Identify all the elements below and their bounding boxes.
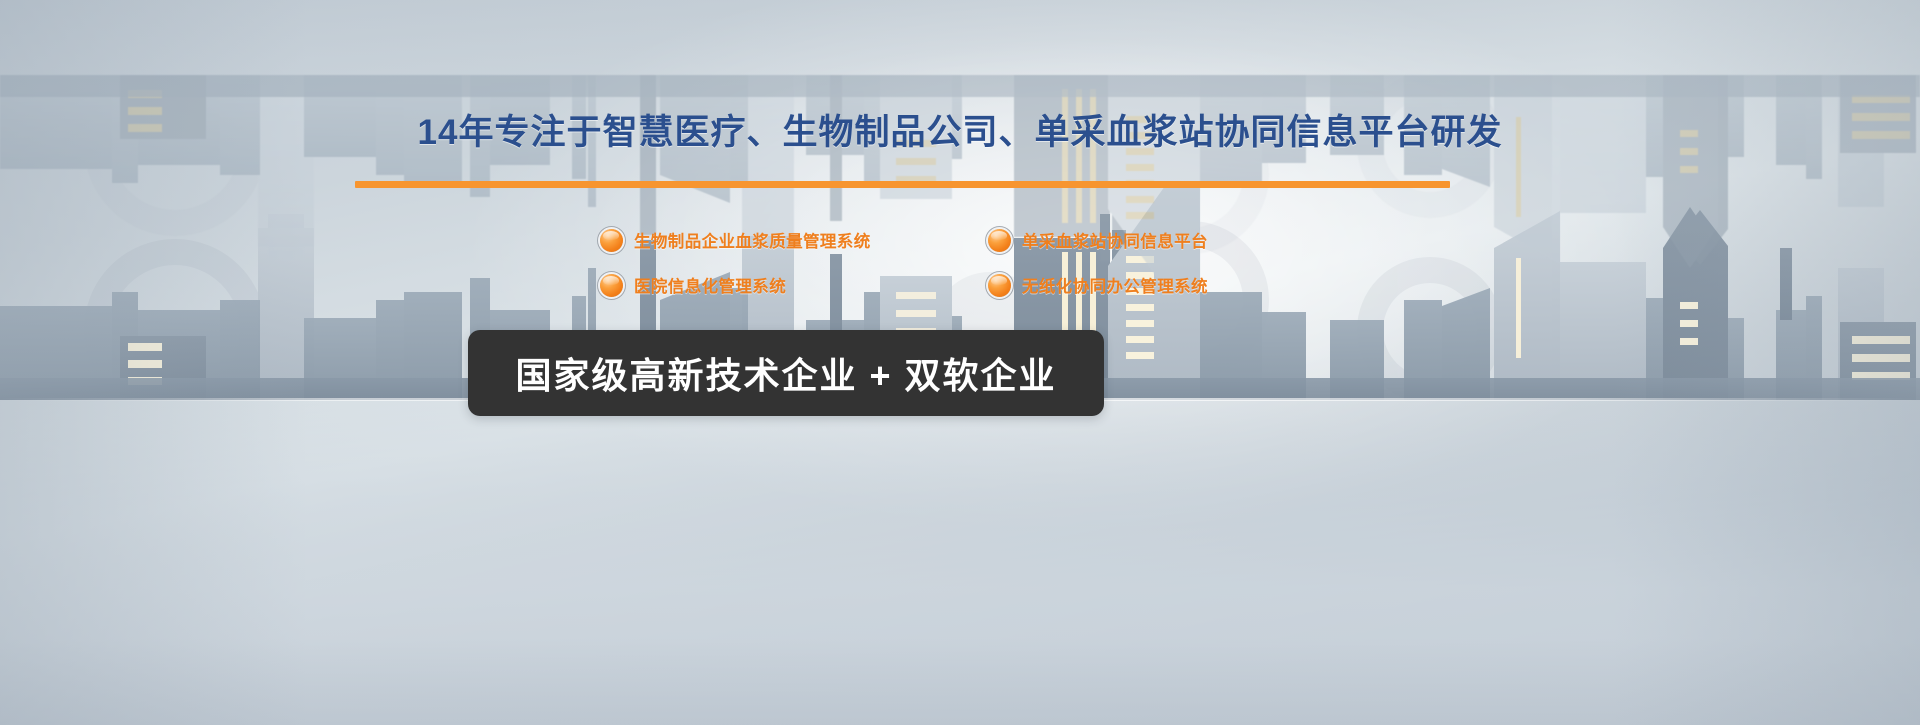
page-title: 14年专注于智慧医疗、生物制品公司、单采血浆站协同信息平台研发 bbox=[0, 104, 1920, 155]
feature-item-plasma-quality[interactable]: 生物制品企业血浆质量管理系统 bbox=[600, 228, 988, 252]
feature-row: 医院信息化管理系统 无纸化协同办公管理系统 bbox=[600, 273, 1360, 297]
orange-dot-icon bbox=[600, 274, 623, 297]
hero-banner: 14年专注于智慧医疗、生物制品公司、单采血浆站协同信息平台研发 生物制品企业血浆… bbox=[0, 0, 1920, 725]
certification-badge-text: 国家级高新技术企业 + 双软企业 bbox=[515, 347, 1056, 399]
orange-dot-icon bbox=[600, 229, 623, 252]
feature-list: 生物制品企业血浆质量管理系统 单采血浆站协同信息平台 医院信息化管理系统 无纸化… bbox=[600, 228, 1360, 297]
title-underline-rule bbox=[355, 181, 1450, 188]
feature-label: 医院信息化管理系统 bbox=[634, 273, 786, 297]
orange-dot-icon bbox=[988, 229, 1011, 252]
feature-item-plasma-station[interactable]: 单采血浆站协同信息平台 bbox=[988, 228, 1360, 252]
orange-dot-icon bbox=[988, 274, 1011, 297]
certification-badge: 国家级高新技术企业 + 双软企业 bbox=[468, 330, 1104, 416]
banner-content: 14年专注于智慧医疗、生物制品公司、单采血浆站协同信息平台研发 生物制品企业血浆… bbox=[0, 0, 1920, 725]
feature-item-paperless-oa[interactable]: 无纸化协同办公管理系统 bbox=[988, 273, 1360, 297]
feature-label: 生物制品企业血浆质量管理系统 bbox=[634, 228, 871, 252]
feature-row: 生物制品企业血浆质量管理系统 单采血浆站协同信息平台 bbox=[600, 228, 1360, 252]
feature-label: 无纸化协同办公管理系统 bbox=[1022, 273, 1208, 297]
feature-item-hospital-info[interactable]: 医院信息化管理系统 bbox=[600, 273, 988, 297]
feature-label: 单采血浆站协同信息平台 bbox=[1022, 228, 1208, 252]
